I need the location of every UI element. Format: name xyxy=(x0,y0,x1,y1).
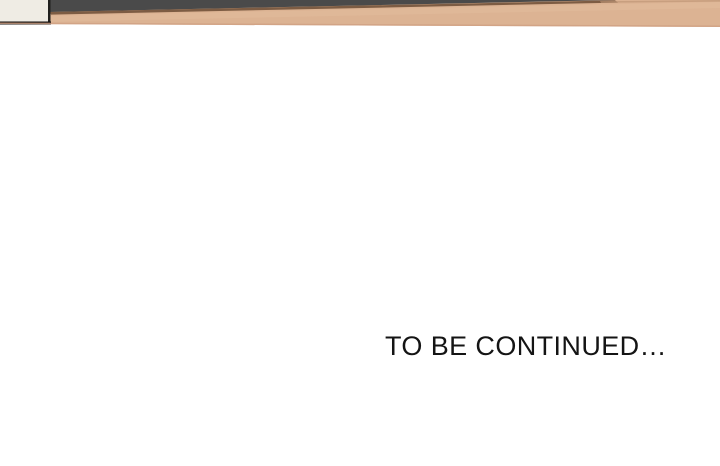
panel-strip-artwork xyxy=(0,0,720,32)
previous-panel-bottom-edge xyxy=(0,0,720,32)
cream-panel-corner xyxy=(0,0,50,23)
comic-page: TO BE CONTINUED… xyxy=(0,0,720,466)
to-be-continued-caption: TO BE CONTINUED… xyxy=(385,333,667,360)
cream-corner-right-border xyxy=(48,0,51,23)
page-body-whitespace xyxy=(0,32,720,466)
